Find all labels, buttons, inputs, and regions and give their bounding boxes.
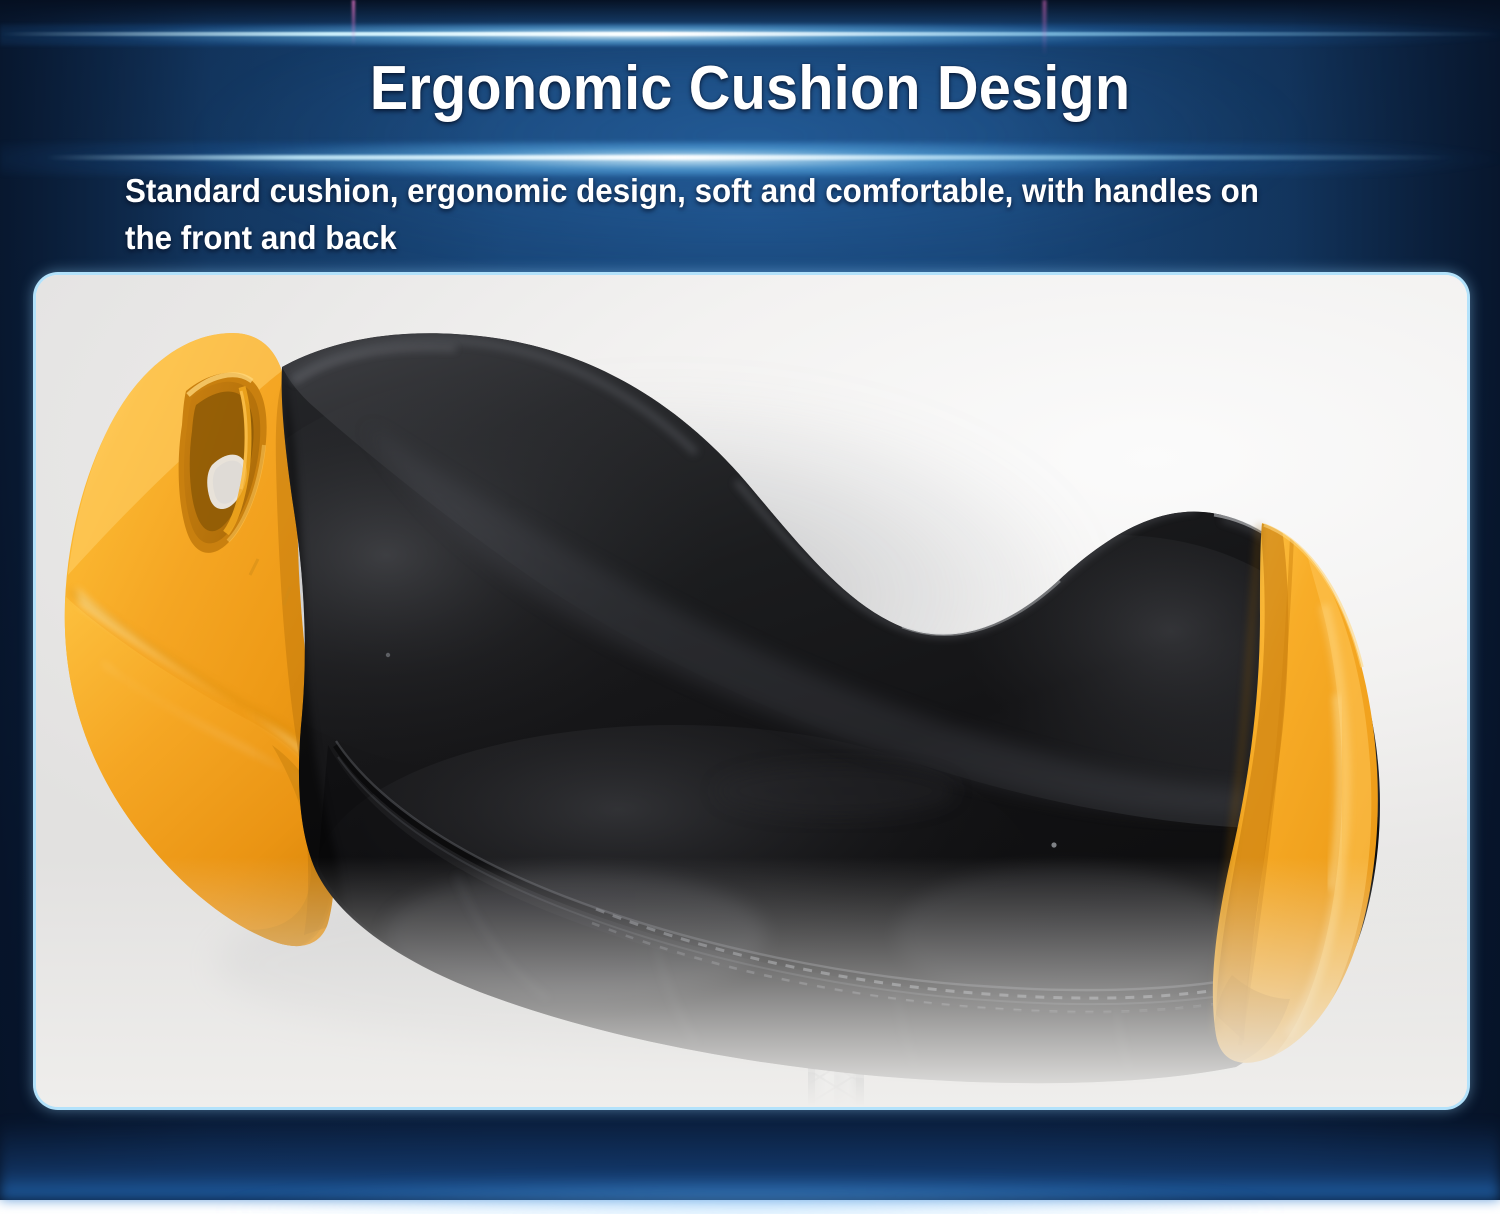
photo-floor-fade — [36, 857, 1467, 1107]
background-top-shade — [0, 0, 1500, 30]
product-photo — [36, 275, 1467, 1107]
product-photo-panel — [36, 275, 1467, 1107]
page-title: Ergonomic Cushion Design — [53, 53, 1448, 124]
magenta-lens-flare-secondary — [1043, 0, 1046, 56]
magenta-lens-flare — [352, 0, 355, 46]
post-contact-shadow — [716, 765, 956, 817]
page-subtitle: Standard cushion, ergonomic design, soft… — [125, 168, 1303, 262]
background-bottom-glow-core — [120, 1168, 1380, 1214]
